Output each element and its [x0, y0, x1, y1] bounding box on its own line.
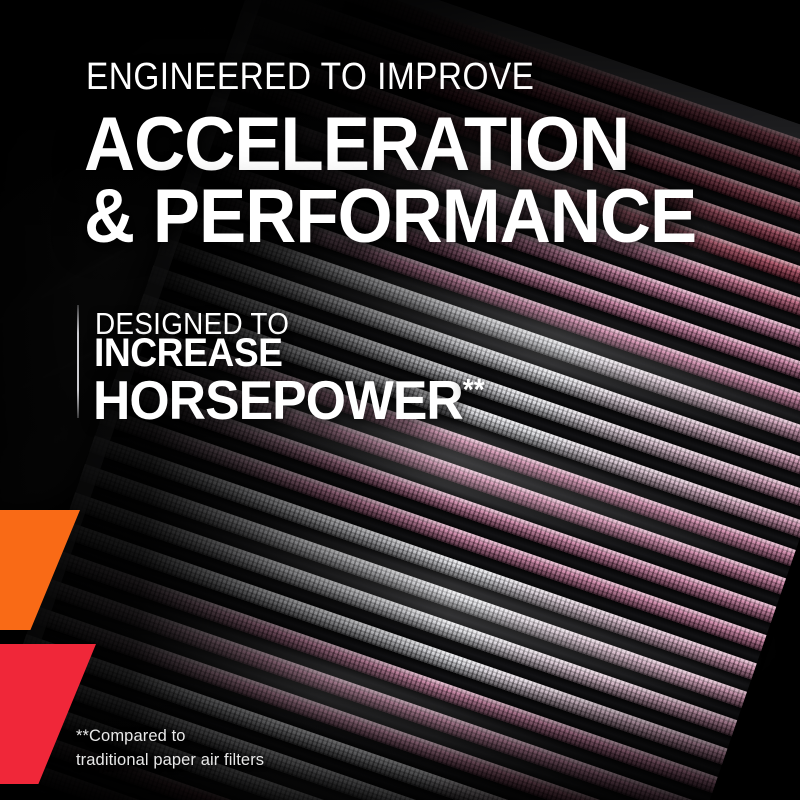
marketing-banner: ENGINEERED TO IMPROVE ACCELERATION & PER…: [0, 0, 800, 800]
vertical-accent-bar: [77, 305, 79, 418]
sub-huge-label: HORSEPOWER: [93, 369, 463, 431]
eyebrow-text: ENGINEERED TO IMPROVE: [86, 56, 534, 99]
footnote-marker: **: [463, 374, 485, 407]
copy-block: ENGINEERED TO IMPROVE ACCELERATION & PER…: [0, 0, 800, 800]
headline-line-2: & PERFORMANCE: [84, 173, 696, 260]
footnote-line-1: **Compared to: [76, 727, 186, 746]
sub-huge-text: HORSEPOWER**: [93, 368, 485, 432]
footnote-line-2: traditional paper air filters: [76, 751, 264, 770]
